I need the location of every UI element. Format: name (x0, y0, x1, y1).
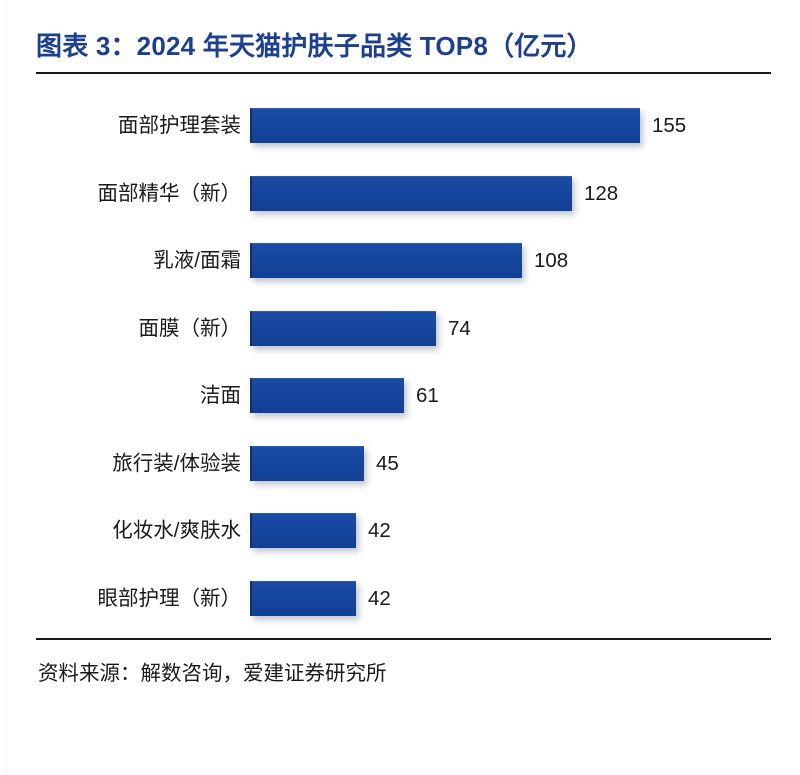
bar-row: 洁面 61 (0, 362, 800, 430)
bar-travel-trial-kit[interactable] (250, 446, 364, 481)
bar-track: 155 (250, 92, 800, 160)
title-divider (36, 72, 771, 74)
page-title: 图表 3：2024 年天猫护肤子品类 TOP8（亿元） (36, 26, 776, 63)
bar-cleanser[interactable] (250, 378, 404, 413)
category-label: 洁面 (200, 362, 241, 430)
bar-track: 42 (250, 497, 800, 565)
bar-row: 面部精华（新） 128 (0, 160, 800, 228)
bar-row: 旅行装/体验装 45 (0, 430, 800, 498)
bar-value-label: 61 (416, 378, 439, 413)
bar-toner[interactable] (250, 513, 356, 548)
bar-track: 61 (250, 362, 800, 430)
bar-row: 乳液/面霜 108 (0, 227, 800, 295)
bar-row: 眼部护理（新） 42 (0, 565, 800, 633)
bar-face-mask-new[interactable] (250, 311, 436, 346)
source-note: 资料来源：解数咨询，爱建证券研究所 (38, 656, 387, 686)
bar-value-label: 45 (376, 446, 399, 481)
bar-value-label: 74 (448, 311, 471, 346)
bar-row: 化妆水/爽肤水 42 (0, 497, 800, 565)
bar-lotion-cream[interactable] (250, 243, 522, 278)
category-label: 面膜（新） (139, 295, 242, 363)
bar-value-label: 155 (652, 108, 686, 143)
bar-value-label: 42 (368, 581, 391, 616)
bar-track: 42 (250, 565, 800, 633)
bar-facial-serum-new[interactable] (250, 176, 572, 211)
bar-track: 45 (250, 430, 800, 498)
footer-divider (36, 638, 771, 640)
bar-value-label: 128 (584, 176, 618, 211)
category-label: 眼部护理（新） (98, 565, 242, 633)
bar-value-label: 108 (534, 243, 568, 278)
bar-row: 面部护理套装 155 (0, 92, 800, 160)
category-label: 乳液/面霜 (153, 227, 241, 295)
bar-track: 128 (250, 160, 800, 228)
figure-card: 图表 3：2024 年天猫护肤子品类 TOP8（亿元） 面部护理套装 155 面… (0, 0, 800, 775)
bar-track: 108 (250, 227, 800, 295)
category-label: 面部精华（新） (98, 160, 242, 228)
bar-value-label: 42 (368, 513, 391, 548)
category-label: 化妆水/爽肤水 (112, 497, 241, 565)
bar-eye-care-new[interactable] (250, 581, 356, 616)
bar-row: 面膜（新） 74 (0, 295, 800, 363)
bar-track: 74 (250, 295, 800, 363)
category-label: 旅行装/体验装 (112, 430, 241, 498)
bar-chart-plot-area: 面部护理套装 155 面部精华（新） 128 乳液/面霜 108 面膜（新） (0, 92, 800, 632)
bar-face-care-set[interactable] (250, 108, 640, 143)
category-label: 面部护理套装 (118, 92, 241, 160)
